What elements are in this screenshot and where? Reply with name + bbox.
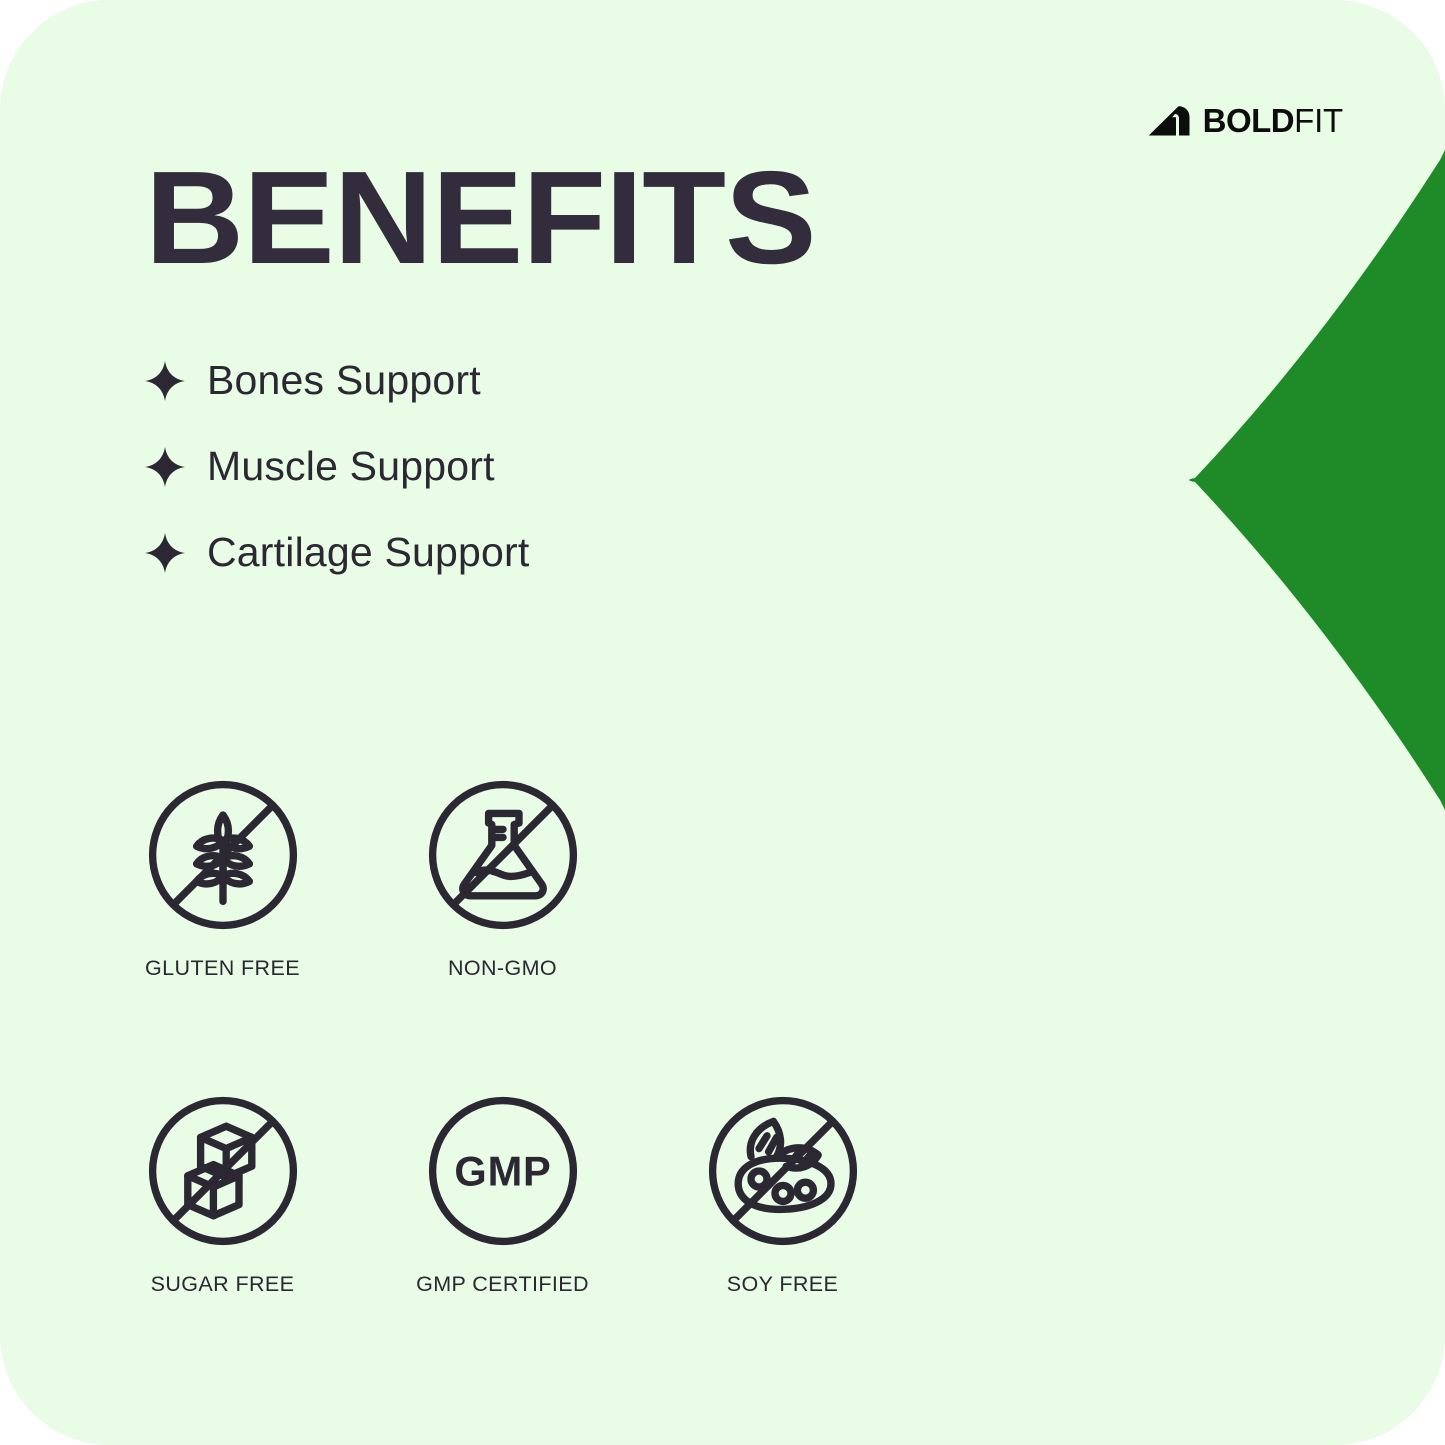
gmp-circle-icon: GMP bbox=[423, 1091, 583, 1251]
badge-soy-free: SOY FREE bbox=[700, 1091, 865, 1297]
green-accent-shape bbox=[1165, 150, 1445, 810]
benefits-infographic: BOLDFIT BENEFITS Bones Support Muscle Su… bbox=[0, 0, 1445, 1445]
flask-no-icon bbox=[423, 775, 583, 935]
boldfit-a-mark-icon bbox=[1148, 105, 1194, 137]
certification-badges: GLUTEN FREE NON-GMO bbox=[140, 775, 1040, 1297]
badge-label: NON-GMO bbox=[448, 956, 557, 981]
benefits-list: Bones Support Muscle Support Cartilage S… bbox=[145, 338, 885, 596]
card-surface: BOLDFIT BENEFITS Bones Support Muscle Su… bbox=[0, 0, 1445, 1445]
wheat-no-icon bbox=[143, 775, 303, 935]
badge-row: SUGAR FREE GMP GMP CERTIFIED bbox=[140, 1091, 1040, 1297]
brand-logo: BOLDFIT bbox=[1148, 104, 1343, 137]
benefit-label: Bones Support bbox=[207, 358, 481, 403]
benefit-item: Bones Support bbox=[145, 338, 885, 424]
badge-label: GMP CERTIFIED bbox=[416, 1272, 589, 1297]
soybean-no-icon bbox=[703, 1091, 863, 1251]
gmp-inner-text: GMP bbox=[454, 1148, 551, 1195]
badge-gmp-certified: GMP GMP CERTIFIED bbox=[420, 1091, 585, 1297]
badge-label: GLUTEN FREE bbox=[145, 956, 300, 981]
sugar-cubes-no-icon bbox=[143, 1091, 303, 1251]
benefit-item: Muscle Support bbox=[145, 424, 885, 510]
benefit-label: Muscle Support bbox=[207, 444, 495, 489]
brand-word-bold: BOLD bbox=[1203, 104, 1295, 137]
badge-row: GLUTEN FREE NON-GMO bbox=[140, 775, 1040, 981]
sparkle-icon bbox=[145, 533, 185, 573]
page-title: BENEFITS bbox=[145, 152, 816, 284]
badge-label: SUGAR FREE bbox=[151, 1272, 295, 1297]
benefit-label: Cartilage Support bbox=[207, 530, 529, 575]
benefit-item: Cartilage Support bbox=[145, 510, 885, 596]
brand-word-light: FIT bbox=[1294, 104, 1343, 137]
badge-gluten-free: GLUTEN FREE bbox=[140, 775, 305, 981]
sparkle-icon bbox=[145, 361, 185, 401]
badge-label: SOY FREE bbox=[727, 1272, 839, 1297]
sparkle-icon bbox=[145, 447, 185, 487]
badge-sugar-free: SUGAR FREE bbox=[140, 1091, 305, 1297]
brand-wordmark: BOLDFIT bbox=[1203, 104, 1343, 137]
badge-non-gmo: NON-GMO bbox=[420, 775, 585, 981]
